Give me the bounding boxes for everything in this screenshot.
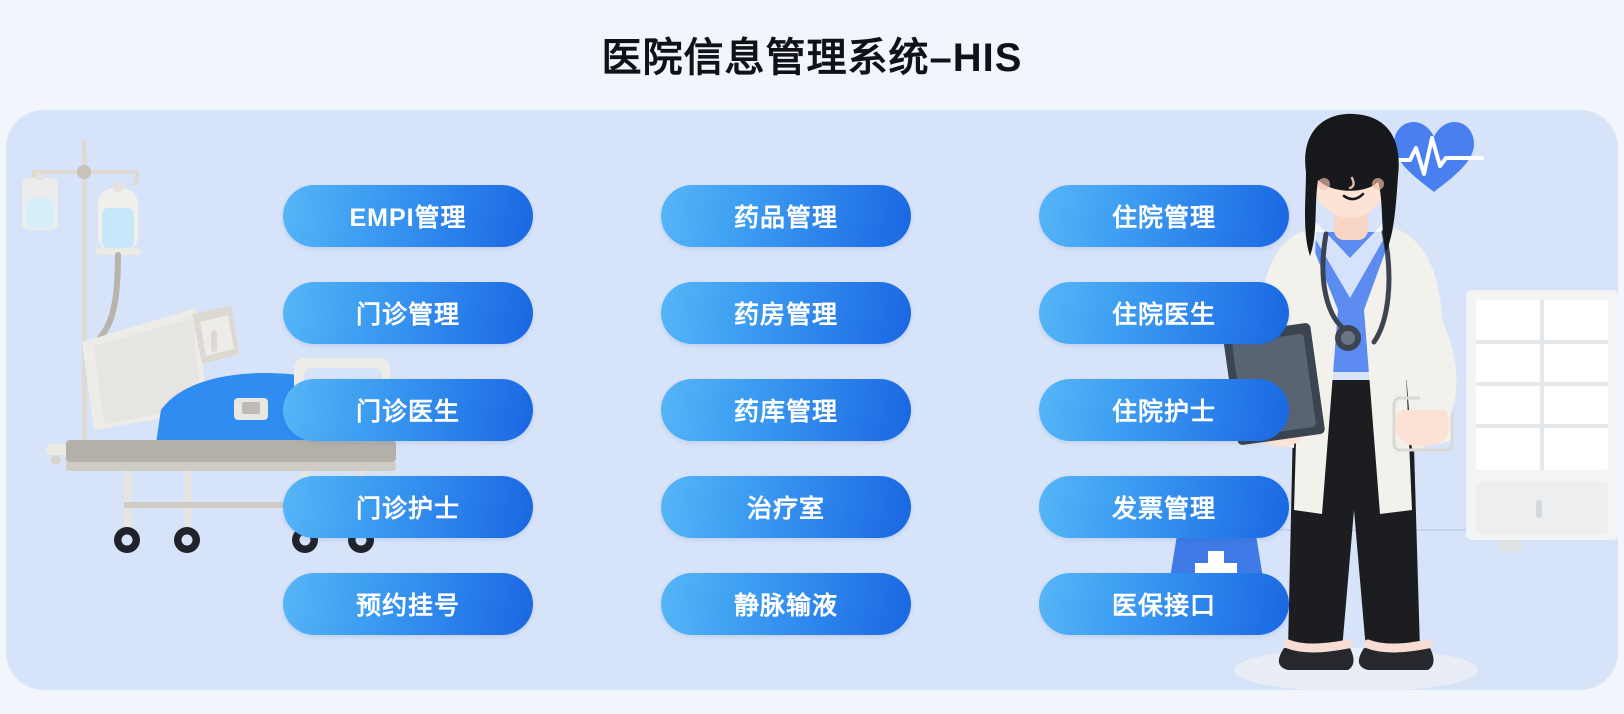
module-button-intravenous-infusion[interactable]: 静脉输液: [661, 573, 911, 635]
module-button-inpatient-doctor[interactable]: 住院医生: [1039, 282, 1289, 344]
module-button-inpatient-management[interactable]: 住院管理: [1039, 185, 1289, 247]
heartbeat-icon: [1386, 122, 1482, 192]
module-button-drug-management[interactable]: 药品管理: [661, 185, 911, 247]
module-button-outpatient-nurse[interactable]: 门诊护士: [283, 476, 533, 538]
module-button-empi-management[interactable]: EMPI管理: [283, 185, 533, 247]
module-button-grid: EMPI管理 药品管理 住院管理 门诊管理 药房管理 住院医生 门诊医生 药库管…: [283, 185, 1295, 635]
his-portal-page: 医院信息管理系统–HIS: [0, 0, 1624, 714]
module-button-insurance-interface[interactable]: 医保接口: [1039, 573, 1289, 635]
iv-bag-icon: [92, 182, 140, 348]
module-button-outpatient-doctor[interactable]: 门诊医生: [283, 379, 533, 441]
module-button-appointment-booking[interactable]: 预约挂号: [283, 573, 533, 635]
iv-bag-icon: [22, 172, 58, 230]
module-button-outpatient-management[interactable]: 门诊管理: [283, 282, 533, 344]
module-button-inpatient-nurse[interactable]: 住院护士: [1039, 379, 1289, 441]
page-title: 医院信息管理系统–HIS: [0, 33, 1624, 83]
module-button-pharmacy-management[interactable]: 药房管理: [661, 282, 911, 344]
module-button-drug-store-management[interactable]: 药库管理: [661, 379, 911, 441]
cabinet-icon: [1466, 290, 1618, 552]
module-button-treatment-room[interactable]: 治疗室: [661, 476, 911, 538]
modules-card: EMPI管理 药品管理 住院管理 门诊管理 药房管理 住院医生 门诊医生 药库管…: [6, 110, 1618, 690]
module-button-invoice-management[interactable]: 发票管理: [1039, 476, 1289, 538]
